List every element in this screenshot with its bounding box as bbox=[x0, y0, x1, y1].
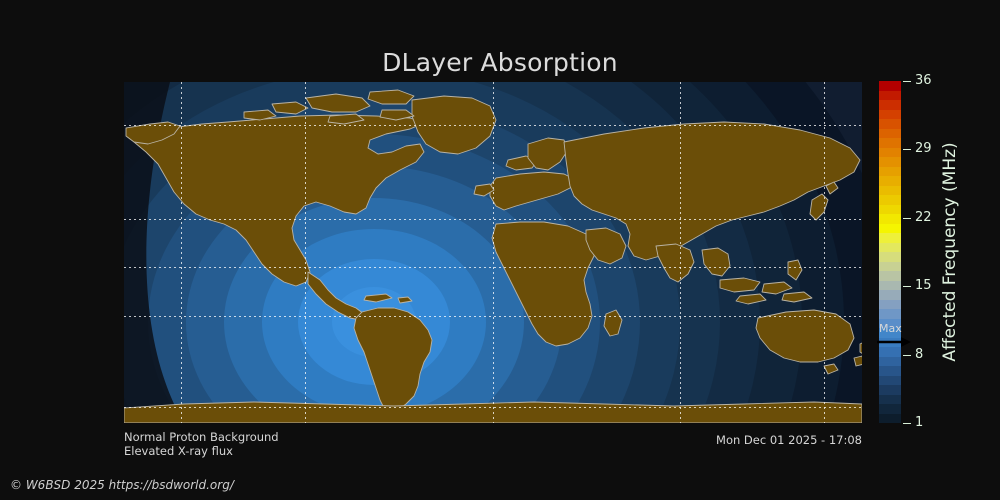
colorbar-segment bbox=[879, 290, 901, 300]
colorbar-segment bbox=[879, 148, 901, 158]
colorbar-segment bbox=[879, 376, 901, 386]
colorbar-segment bbox=[879, 176, 901, 186]
copyright-notice: © W6BSD 2025 https://bsdworld.org/ bbox=[10, 478, 234, 492]
colorbar-tick-mark bbox=[903, 149, 911, 150]
colorbar-tick-label: 29 bbox=[915, 142, 932, 155]
colorbar-tick-mark bbox=[903, 81, 911, 82]
colorbar-segment bbox=[879, 224, 901, 234]
colorbar-segment bbox=[879, 385, 901, 395]
colorbar-segment bbox=[879, 281, 901, 291]
colorbar-segment bbox=[879, 404, 901, 414]
colorbar-tick-label: 15 bbox=[915, 279, 932, 292]
world-map-graphic bbox=[124, 82, 862, 423]
colorbar-tick-label: 36 bbox=[915, 74, 932, 87]
colorbar-tick-mark bbox=[903, 423, 911, 424]
timestamp: Mon Dec 01 2025 - 17:08 bbox=[716, 433, 862, 447]
colorbar-segment bbox=[879, 233, 901, 243]
colorbar-segment bbox=[879, 157, 901, 167]
colorbar-segment bbox=[879, 357, 901, 367]
colorbar-segment bbox=[879, 205, 901, 215]
colorbar-segment bbox=[879, 138, 901, 148]
colorbar-segment bbox=[879, 91, 901, 101]
colorbar-tick-mark bbox=[903, 286, 911, 287]
colorbar-segment bbox=[879, 262, 901, 272]
colorbar-segment bbox=[879, 110, 901, 120]
colorbar-segment bbox=[879, 186, 901, 196]
dlayer-absorption-page: DLayer Absorption bbox=[0, 0, 1000, 500]
colorbar-segment bbox=[879, 338, 901, 348]
colorbar-segment bbox=[879, 252, 901, 262]
colorbar-segment bbox=[879, 347, 901, 357]
colorbar-segment bbox=[879, 214, 901, 224]
colorbar-tick-label: 22 bbox=[915, 211, 932, 224]
colorbar-segment bbox=[879, 119, 901, 129]
colorbar-segment bbox=[879, 328, 901, 338]
colorbar-axis-label: Affected Frequency (MHz) bbox=[938, 81, 962, 423]
colorbar-segment bbox=[879, 271, 901, 281]
colorbar-segment bbox=[879, 319, 901, 329]
colorbar-segment bbox=[879, 414, 901, 424]
colorbar-segment bbox=[879, 395, 901, 405]
colorbar[interactable] bbox=[879, 81, 901, 423]
colorbar-tick-mark bbox=[903, 355, 911, 356]
colorbar-segment bbox=[879, 167, 901, 177]
colorbar-tick-mark bbox=[903, 218, 911, 219]
page-title: DLayer Absorption bbox=[0, 48, 1000, 78]
colorbar-segment bbox=[879, 309, 901, 319]
colorbar-segment bbox=[879, 81, 901, 91]
colorbar-segment bbox=[879, 129, 901, 139]
colorbar-tick-label: 8 bbox=[915, 348, 923, 361]
colorbar-segment bbox=[879, 100, 901, 110]
colorbar-tick-label: 1 bbox=[915, 416, 923, 429]
colorbar-gradient bbox=[879, 81, 901, 423]
status-xray-flux: Elevated X-ray flux bbox=[124, 444, 233, 458]
colorbar-segment bbox=[879, 300, 901, 310]
colorbar-segment bbox=[879, 366, 901, 376]
colorbar-segment bbox=[879, 195, 901, 205]
colorbar-segment bbox=[879, 243, 901, 253]
world-map-panel[interactable] bbox=[124, 82, 862, 423]
status-proton-background: Normal Proton Background bbox=[124, 430, 279, 444]
